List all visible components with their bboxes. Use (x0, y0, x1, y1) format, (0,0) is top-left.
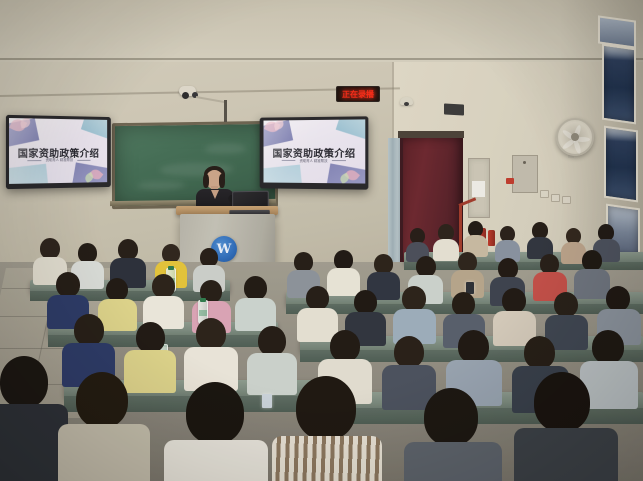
slide-subtitle-row: 资助育人 精准帮扶 (9, 157, 107, 162)
control-panel (512, 155, 538, 193)
led-sign-text: 正在录播 (342, 89, 374, 100)
camera-drop-rod (224, 100, 227, 122)
ceiling-seam (0, 58, 643, 60)
fire-extinguisher-icon (488, 230, 495, 246)
wall-fan-icon (556, 118, 594, 156)
slide-shape-top-right (81, 118, 108, 139)
panel-indicator-icon (523, 161, 526, 164)
ceiling (0, 0, 643, 62)
subtitle-rule-left (28, 160, 42, 161)
wall-socket-icon (562, 196, 571, 204)
slide-subtitle: 资助育人 精准帮扶 (46, 158, 73, 162)
fire-pipe (459, 206, 462, 254)
slide-subtitle-row: 资助育人 精准帮扶 (263, 158, 365, 163)
wall-socket-icon (540, 190, 549, 198)
slide-shape-top-right (336, 119, 365, 139)
camera-lens-icon (182, 92, 189, 99)
door-transom (398, 131, 464, 138)
lecture-hall-photo: 国家资助政策介绍 资助育人 精准帮扶 国家资助政策介绍 (0, 0, 643, 481)
subtitle-rule-left (282, 160, 296, 161)
emblem-letter: W (217, 243, 232, 256)
window-pane (604, 126, 638, 203)
left-display-screen: 国家资助政策介绍 资助育人 精准帮扶 (9, 118, 107, 184)
left-display: 国家资助政策介绍 资助育人 精准帮扶 (6, 115, 111, 189)
speaker-hair-side (203, 174, 209, 188)
subtitle-rule-right (331, 160, 345, 161)
speaker-hair-side (219, 174, 225, 188)
slide-shape-bottom-left (9, 164, 49, 184)
slide-shape-bottom-left (263, 164, 302, 183)
slide-artwork-left: 国家资助政策介绍 资助育人 精准帮扶 (9, 118, 107, 184)
posted-notice (472, 181, 485, 197)
right-display-screen: 国家资助政策介绍 资助育人 精准帮扶 (263, 119, 365, 183)
dome-camera-lens (404, 102, 409, 106)
slide-artwork-right: 国家资助政策介绍 资助育人 精准帮扶 (263, 119, 365, 183)
electrical-panel (468, 158, 490, 218)
slide-subtitle: 资助育人 精准帮扶 (300, 159, 328, 163)
emergency-sign-icon (506, 178, 514, 184)
right-display: 国家资助政策介绍 资助育人 精准帮扶 (260, 116, 369, 189)
subtitle-rule-right (77, 160, 90, 161)
led-sign: 正在录播 (336, 86, 380, 102)
desk-row-front (404, 262, 643, 270)
wall-socket-icon (551, 194, 560, 202)
smartphone[interactable] (262, 394, 272, 408)
desk-row-front (320, 408, 643, 424)
window-pane (602, 44, 636, 125)
wall-vent (444, 103, 464, 115)
